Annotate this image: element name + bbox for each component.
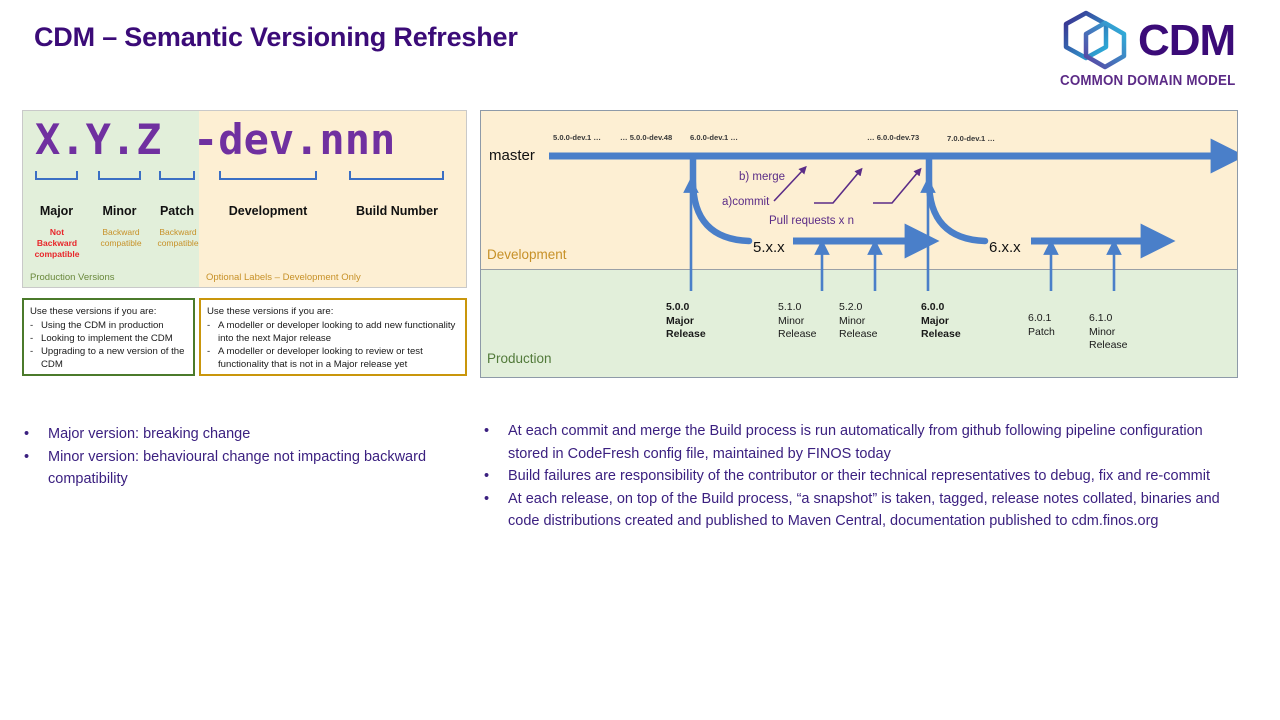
release-label-520: 5.2.0 Minor Release bbox=[839, 301, 878, 342]
note-major: Not Backward compatible bbox=[29, 227, 85, 260]
bullets-left: •Major version: breaking change •Minor v… bbox=[24, 423, 454, 491]
release-type: Minor bbox=[1089, 326, 1128, 340]
page-title: CDM – Semantic Versioning Refresher bbox=[34, 22, 518, 53]
label-patch: Patch bbox=[155, 204, 199, 218]
release-type: Major bbox=[666, 315, 706, 329]
bracket-patch bbox=[159, 171, 195, 180]
production-versions-footer: Production Versions bbox=[30, 272, 115, 283]
development-version-pattern: -dev.nnn bbox=[193, 115, 395, 164]
list-item-text: At each release, on top of the Build pro… bbox=[508, 488, 1244, 533]
list-item: -Using the CDM in production bbox=[30, 319, 187, 332]
release-label-601: 6.0.1 Patch bbox=[1028, 312, 1055, 339]
bracket-major bbox=[35, 171, 78, 180]
release-word: Release bbox=[839, 328, 878, 342]
list-item: -A modeller or developer looking to add … bbox=[207, 319, 459, 345]
release-version: 6.0.1 bbox=[1028, 312, 1055, 326]
list-item: •Build failures are responsibility of th… bbox=[484, 465, 1244, 488]
bullet-dot: • bbox=[484, 465, 508, 488]
release-version: 6.1.0 bbox=[1089, 312, 1128, 326]
development-labels-pane: -dev.nnn Development Build Number Option… bbox=[199, 111, 466, 287]
release-version: 5.2.0 bbox=[839, 301, 878, 315]
development-labels-footer: Optional Labels – Development Only bbox=[206, 272, 361, 283]
bullet-dot: • bbox=[24, 423, 48, 446]
bullet-dot: • bbox=[484, 488, 508, 533]
list-item: •At each commit and merge the Build proc… bbox=[484, 420, 1244, 465]
release-type: Patch bbox=[1028, 326, 1055, 340]
callout-heading: Use these versions if you are: bbox=[30, 305, 187, 318]
list-item-text: Looking to implement the CDM bbox=[41, 332, 187, 345]
bullet-dot: • bbox=[484, 420, 508, 465]
release-type: Minor bbox=[778, 315, 817, 329]
bracket-minor bbox=[98, 171, 141, 180]
list-item: •Major version: breaking change bbox=[24, 423, 454, 446]
list-item-text: A modeller or developer looking to revie… bbox=[218, 345, 459, 371]
dash-bullet: - bbox=[30, 332, 41, 345]
dash-bullet: - bbox=[207, 345, 218, 371]
release-version: 5.1.0 bbox=[778, 301, 817, 315]
release-label-510: 5.1.0 Minor Release bbox=[778, 301, 817, 342]
release-word: Release bbox=[921, 328, 961, 342]
list-item-text: Build failures are responsibility of the… bbox=[508, 465, 1244, 488]
bracket-development bbox=[219, 171, 317, 180]
list-item-text: Using the CDM in production bbox=[41, 319, 187, 332]
release-word: Release bbox=[666, 328, 706, 342]
label-major: Major bbox=[35, 204, 78, 218]
release-branching-diagram: Development Production master 5.0.0-dev.… bbox=[480, 110, 1238, 378]
list-item: -Looking to implement the CDM bbox=[30, 332, 187, 345]
callout-list: -A modeller or developer looking to add … bbox=[207, 319, 459, 371]
list-item-text: At each commit and merge the Build proce… bbox=[508, 420, 1244, 465]
release-label-610: 6.1.0 Minor Release bbox=[1089, 312, 1128, 353]
list-item: •Minor version: behavioural change not i… bbox=[24, 446, 454, 491]
bullet-dot: • bbox=[24, 446, 48, 491]
release-type: Minor bbox=[839, 315, 878, 329]
release-label-500: 5.0.0 Major Release bbox=[666, 301, 706, 342]
note-minor: Backward compatible bbox=[95, 227, 147, 249]
label-minor: Minor bbox=[98, 204, 141, 218]
label-development: Development bbox=[213, 204, 323, 218]
bracket-build-number bbox=[349, 171, 444, 180]
callout-list: -Using the CDM in production -Looking to… bbox=[30, 319, 187, 371]
label-build-number: Build Number bbox=[345, 204, 449, 218]
list-item-text: Minor version: behavioural change not im… bbox=[48, 446, 454, 491]
production-versions-pane: X.Y.Z Major Minor Patch Not Backward com… bbox=[23, 111, 199, 287]
bullets-right: •At each commit and merge the Build proc… bbox=[484, 420, 1244, 533]
list-item-text: A modeller or developer looking to add n… bbox=[218, 319, 459, 345]
list-item-text: Major version: breaking change bbox=[48, 423, 454, 446]
development-versions-callout: Use these versions if you are: -A modell… bbox=[199, 298, 467, 376]
dash-bullet: - bbox=[30, 345, 41, 371]
bullet-list: •Major version: breaking change •Minor v… bbox=[24, 423, 454, 491]
production-version-pattern: X.Y.Z bbox=[35, 115, 161, 164]
dash-bullet: - bbox=[207, 319, 218, 345]
logo-wordmark: CDM bbox=[1138, 19, 1235, 63]
callout-heading: Use these versions if you are: bbox=[207, 305, 459, 318]
release-version: 5.0.0 bbox=[666, 301, 706, 315]
bullet-list: •At each commit and merge the Build proc… bbox=[484, 420, 1244, 533]
release-version: 6.0.0 bbox=[921, 301, 961, 315]
list-item: -Upgrading to a new version of the CDM bbox=[30, 345, 187, 371]
release-word: Release bbox=[1089, 339, 1128, 353]
cdm-hexagon-logo-icon bbox=[1060, 10, 1132, 72]
logo-subtitle: COMMON DOMAIN MODEL bbox=[1060, 73, 1231, 89]
dash-bullet: - bbox=[30, 319, 41, 332]
release-type: Major bbox=[921, 315, 961, 329]
production-versions-callout: Use these versions if you are: -Using th… bbox=[22, 298, 195, 376]
cdm-logo: CDM COMMON DOMAIN MODEL bbox=[1060, 10, 1246, 96]
list-item: -A modeller or developer looking to revi… bbox=[207, 345, 459, 371]
list-item: •At each release, on top of the Build pr… bbox=[484, 488, 1244, 533]
release-word: Release bbox=[778, 328, 817, 342]
note-patch: Backward compatible bbox=[155, 227, 201, 249]
semantic-version-anatomy-figure: X.Y.Z Major Minor Patch Not Backward com… bbox=[22, 110, 467, 288]
list-item-text: Upgrading to a new version of the CDM bbox=[41, 345, 187, 371]
release-label-600: 6.0.0 Major Release bbox=[921, 301, 961, 342]
